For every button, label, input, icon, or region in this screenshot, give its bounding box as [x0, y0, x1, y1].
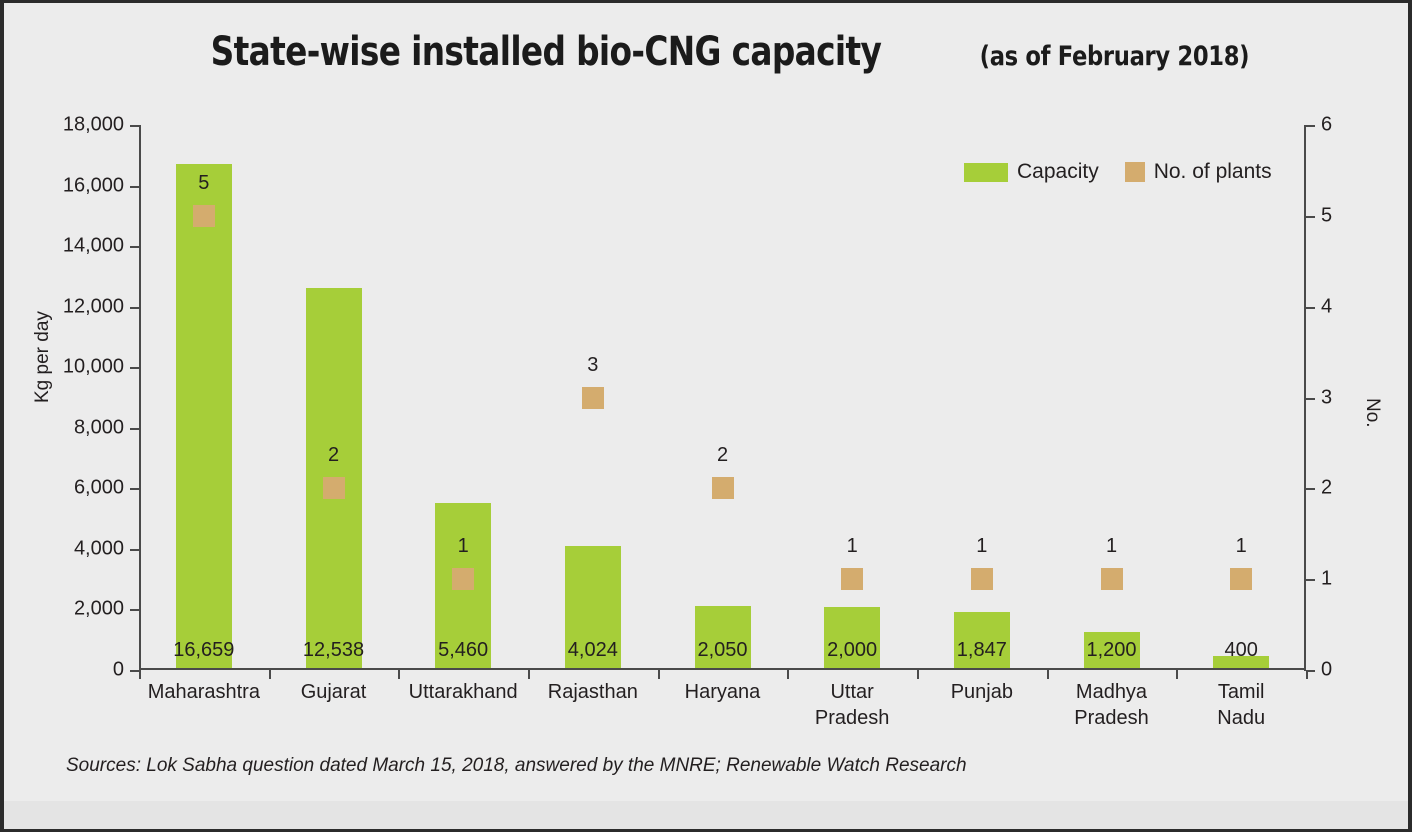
x-axis-category-word: Madhya	[1076, 681, 1147, 703]
marker-no-of-plants	[193, 205, 215, 227]
x-axis-category-word: Uttar	[830, 681, 873, 703]
x-axis-category-word: Rajasthan	[548, 681, 638, 703]
marker-value-label: 1	[1106, 535, 1117, 558]
x-axis-category-word: Punjab	[951, 681, 1013, 703]
y-axis-left-tick-label: 2,000	[74, 598, 124, 621]
y-axis-left-tick	[130, 670, 139, 672]
y-axis-left-tick-label: 14,000	[63, 235, 124, 258]
bottom-strip	[4, 801, 1408, 829]
bar-capacity	[176, 164, 232, 668]
x-axis-tick	[658, 670, 660, 679]
x-axis-tick	[1176, 670, 1178, 679]
y-axis-right-tick-label: 0	[1321, 659, 1332, 682]
y-axis-left-tick-label: 18,000	[63, 114, 124, 137]
marker-value-label: 1	[458, 535, 469, 558]
x-axis-category-word: Haryana	[685, 681, 761, 703]
marker-value-label: 2	[717, 444, 728, 467]
chart-title-subtitle: (as of February 2018)	[979, 41, 1249, 72]
y-axis-right-tick	[1306, 307, 1315, 309]
y-axis-left-tick-label: 8,000	[74, 416, 124, 439]
x-axis-tick	[139, 670, 141, 679]
chart-title: State-wise installed bio-CNG capacity (a…	[4, 29, 1408, 75]
y-axis-left-tick	[130, 428, 139, 430]
x-axis-tick	[398, 670, 400, 679]
bar-value-label: 16,659	[173, 639, 234, 662]
x-axis-category-label: Punjab	[917, 679, 1047, 705]
marker-no-of-plants	[452, 568, 474, 590]
bar-value-label: 12,538	[303, 639, 364, 662]
y-axis-right-tick	[1306, 579, 1315, 581]
x-axis-tick	[528, 670, 530, 679]
y-axis-left-tick	[130, 549, 139, 551]
marker-no-of-plants	[712, 477, 734, 499]
y-axis-left-line	[139, 125, 141, 671]
y-axis-right-tick	[1306, 398, 1315, 400]
bar-value-label: 1,847	[957, 639, 1007, 662]
bar-value-label: 4,024	[568, 639, 618, 662]
y-axis-left-tick	[130, 246, 139, 248]
x-axis-category-word: Tamil	[1218, 681, 1265, 703]
x-axis-tick	[269, 670, 271, 679]
x-axis-category-label: TamilNadu	[1176, 679, 1306, 731]
y-axis-left-tick-label: 12,000	[63, 295, 124, 318]
y-axis-right-tick	[1306, 216, 1315, 218]
marker-no-of-plants	[841, 568, 863, 590]
y-axis-left-tick-label: 16,000	[63, 174, 124, 197]
x-axis-category-word: Pradesh	[815, 707, 890, 729]
x-axis-tick	[1047, 670, 1049, 679]
x-axis-category-word: Nadu	[1217, 707, 1265, 729]
y-axis-right-tick	[1306, 488, 1315, 490]
y-axis-left-tick-label: 4,000	[74, 537, 124, 560]
x-axis-category-word: Maharashtra	[148, 681, 260, 703]
marker-value-label: 2	[328, 444, 339, 467]
x-axis-category-label: Haryana	[658, 679, 788, 705]
x-axis-category-label: MadhyaPradesh	[1047, 679, 1177, 731]
bar-value-label: 400	[1224, 639, 1257, 662]
x-axis-category-label: Uttarakhand	[398, 679, 528, 705]
chart-figure: State-wise installed bio-CNG capacity (a…	[0, 0, 1412, 832]
marker-value-label: 1	[976, 535, 987, 558]
y-axis-right-tick-label: 4	[1321, 295, 1332, 318]
source-note: Sources: Lok Sabha question dated March …	[66, 755, 967, 777]
marker-no-of-plants	[582, 387, 604, 409]
y-axis-left-tick-label: 10,000	[63, 356, 124, 379]
bar-value-label: 5,460	[438, 639, 488, 662]
y-axis-left-title: Kg per day	[32, 311, 54, 403]
y-axis-left-tick-label: 6,000	[74, 477, 124, 500]
y-axis-right-tick	[1306, 125, 1315, 127]
bar-value-label: 2,000	[827, 639, 877, 662]
y-axis-left-tick-label: 0	[113, 659, 124, 682]
x-axis-category-word: Pradesh	[1074, 707, 1149, 729]
marker-no-of-plants	[1230, 568, 1252, 590]
x-axis-category-label: Maharashtra	[139, 679, 269, 705]
plot-area: 02,0004,0006,0008,00010,00012,00014,0001…	[139, 125, 1306, 670]
y-axis-left-tick	[130, 367, 139, 369]
x-axis-category-label: Gujarat	[269, 679, 399, 705]
chart-title-main: State-wise installed bio-CNG capacity	[211, 29, 882, 75]
x-axis-category-label: UttarPradesh	[787, 679, 917, 731]
x-axis-category-word: Gujarat	[301, 681, 367, 703]
y-axis-left-tick	[130, 186, 139, 188]
x-axis-tick	[1306, 670, 1308, 679]
y-axis-right-tick-label: 1	[1321, 568, 1332, 591]
marker-no-of-plants	[971, 568, 993, 590]
bar-value-label: 1,200	[1086, 639, 1136, 662]
y-axis-right-tick-label: 3	[1321, 386, 1332, 409]
y-axis-left-tick	[130, 488, 139, 490]
marker-no-of-plants	[1101, 568, 1123, 590]
x-axis-category-label: Rajasthan	[528, 679, 658, 705]
x-axis-tick	[917, 670, 919, 679]
marker-value-label: 5	[198, 172, 209, 195]
x-axis-tick	[787, 670, 789, 679]
marker-value-label: 1	[1236, 535, 1247, 558]
bar-value-label: 2,050	[697, 639, 747, 662]
marker-value-label: 3	[587, 354, 598, 377]
x-axis-line	[139, 668, 1306, 670]
y-axis-left-tick	[130, 125, 139, 127]
y-axis-right-tick-label: 6	[1321, 114, 1332, 137]
y-axis-right-tick-label: 5	[1321, 204, 1332, 227]
marker-value-label: 1	[847, 535, 858, 558]
y-axis-left-tick	[130, 307, 139, 309]
marker-no-of-plants	[323, 477, 345, 499]
y-axis-left-tick	[130, 609, 139, 611]
x-axis-category-word: Uttarakhand	[409, 681, 518, 703]
y-axis-right-title: No.	[1361, 398, 1383, 428]
y-axis-right-tick-label: 2	[1321, 477, 1332, 500]
